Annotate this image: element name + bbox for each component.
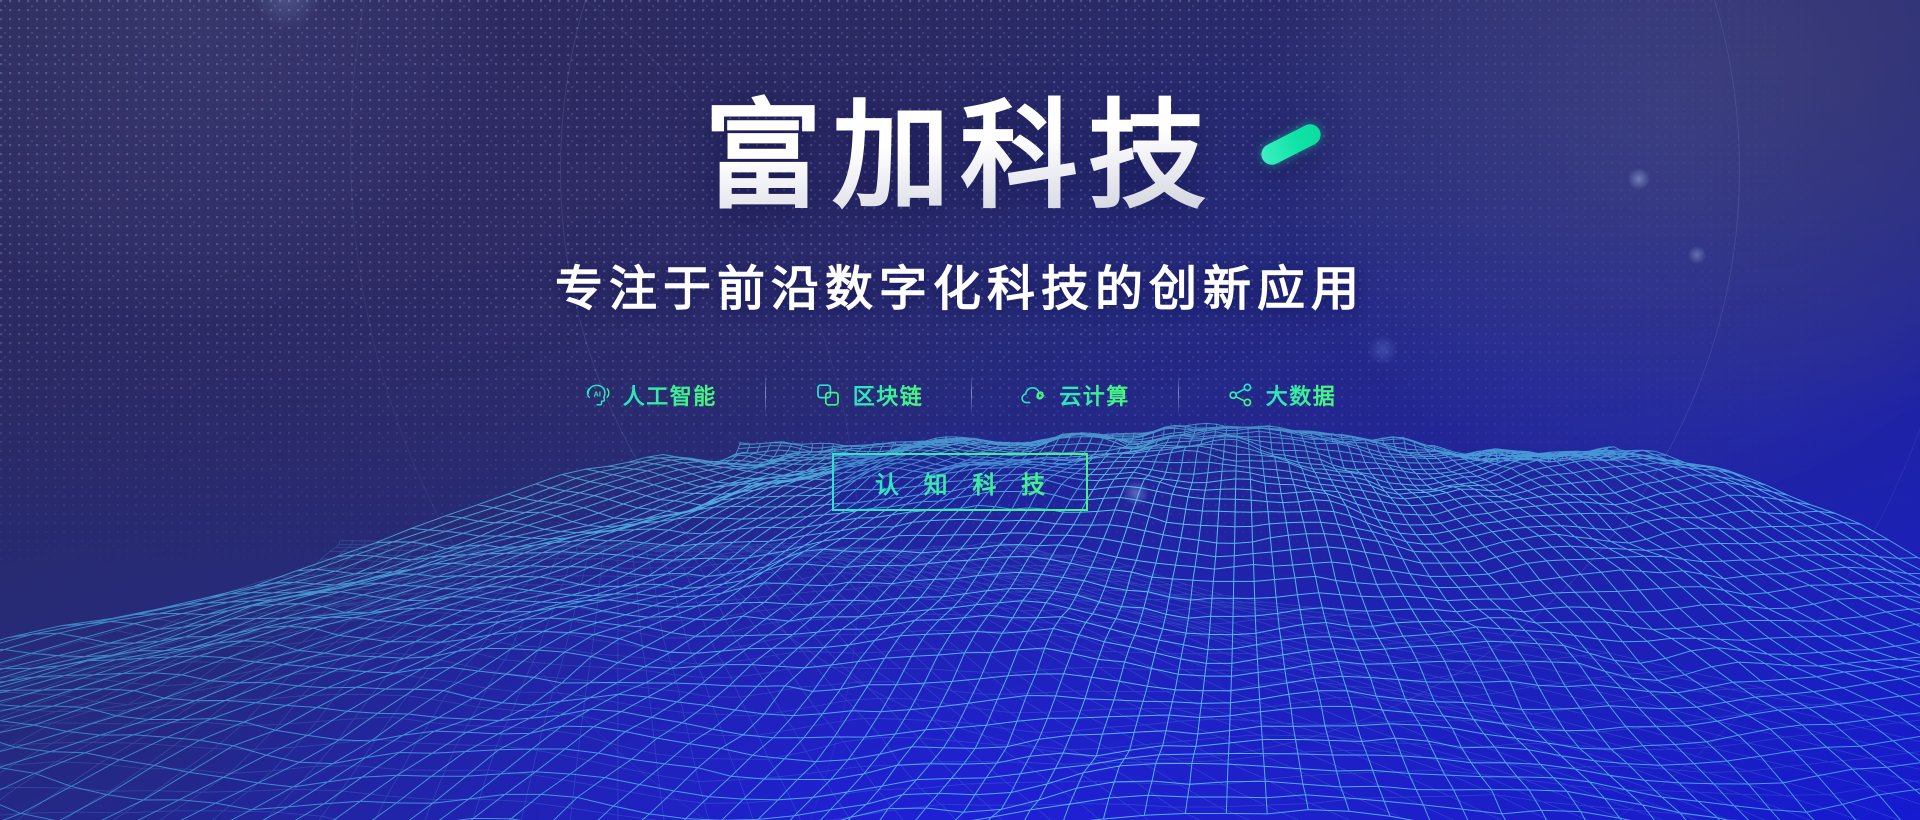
- share-network-icon: [1227, 381, 1255, 409]
- feature-tag-cloud[interactable]: 云计算: [972, 373, 1178, 417]
- feature-tag-list: AI 人工智能 区块链 云计算: [536, 373, 1385, 417]
- feature-tag-label: 大数据: [1266, 379, 1337, 411]
- hero-subtitle: 专注于前沿数字化科技的创新应用: [555, 249, 1365, 319]
- feature-tag-label: 人工智能: [623, 379, 717, 411]
- ai-badge-text: AI: [593, 390, 600, 399]
- hero-content: 富加科技 专注于前沿数字化科技的创新应用 AI 人工智能: [0, 0, 1920, 820]
- feature-tag-ai[interactable]: AI 人工智能: [536, 373, 765, 417]
- blockchain-blocks-icon: [814, 381, 842, 409]
- feature-tag-label: 区块链: [853, 379, 924, 411]
- cloud-gear-icon: [1020, 381, 1048, 409]
- cta-button[interactable]: 认 知 科 技: [832, 453, 1088, 511]
- feature-tag-bigdata[interactable]: 大数据: [1179, 373, 1385, 417]
- feature-tag-label: 云计算: [1059, 379, 1130, 411]
- brand-title-text: 富加科技: [704, 91, 1216, 223]
- hero-banner: 富加科技 专注于前沿数字化科技的创新应用 AI 人工智能: [0, 0, 1920, 820]
- page-title: 富加科技: [704, 88, 1216, 227]
- ai-head-icon: AI: [584, 381, 612, 409]
- title-accent-stroke: [1258, 121, 1325, 169]
- feature-tag-blockchain[interactable]: 区块链: [766, 373, 972, 417]
- cta-button-label: 认 知 科 技: [866, 465, 1054, 500]
